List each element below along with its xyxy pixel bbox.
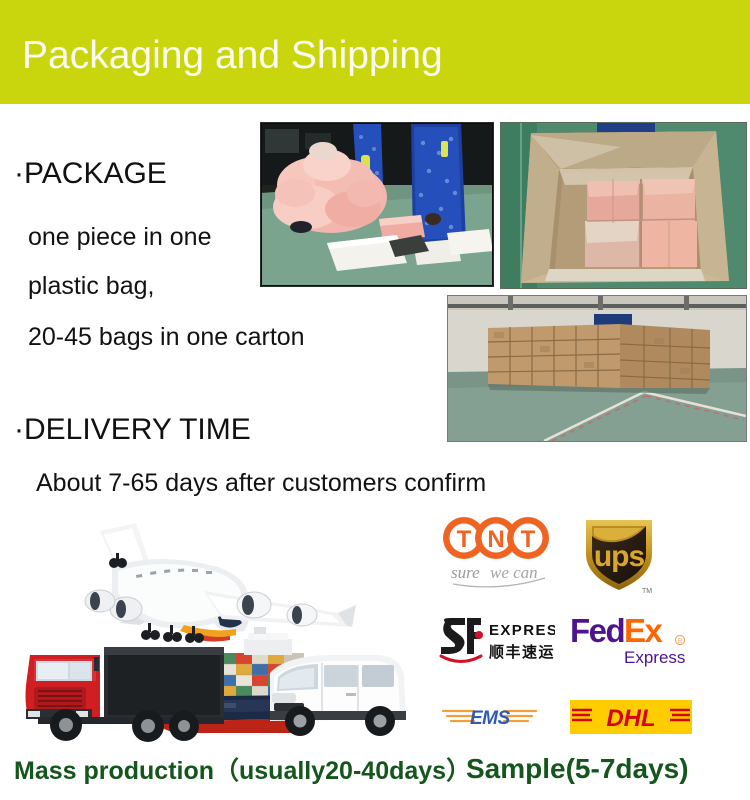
svg-text:顺丰速运: 顺丰速运	[489, 643, 555, 661]
svg-text:we can: we can	[490, 563, 538, 582]
svg-text:EMS: EMS	[470, 708, 511, 729]
package-heading: ·PACKAGE	[14, 156, 167, 192]
svg-text:TM: TM	[642, 588, 652, 595]
svg-text:T: T	[457, 526, 472, 553]
svg-text:sure: sure	[451, 563, 480, 582]
svg-text:Ex: Ex	[624, 612, 664, 649]
package-line-1: one piece in one	[28, 222, 211, 252]
svg-text:N: N	[487, 526, 504, 553]
svg-text:R: R	[678, 639, 683, 645]
svg-text:Express: Express	[624, 648, 685, 667]
warehouse-photo	[447, 295, 747, 442]
delivery-heading: ·DELIVERY TIME	[14, 412, 251, 448]
logistics-composite	[8, 505, 428, 755]
svg-text:T: T	[521, 526, 536, 553]
sample-label: Sample(5-7days)	[466, 752, 689, 786]
ems-logo: EMS	[440, 703, 538, 731]
tnt-logo: T N T sure we can	[437, 512, 557, 590]
package-line-2: plastic bag,	[28, 271, 154, 301]
svg-text:Fed: Fed	[570, 612, 624, 649]
delivery-line: About 7-65 days after customers confirm	[36, 468, 486, 498]
production-line-photo	[260, 122, 494, 287]
packaging-shipping-page: Packaging and Shipping ·PACKAGE one piec…	[0, 0, 750, 800]
svg-text:ups: ups	[594, 540, 645, 573]
dhl-logo: DHL	[570, 700, 692, 734]
mass-production-label: Mass production（usually20-40days）	[14, 755, 471, 787]
sf-express-logo: EXPRESS 顺丰速运	[437, 612, 555, 668]
svg-text:DHL: DHL	[606, 705, 655, 732]
carton-inner-photo	[500, 122, 747, 289]
ups-logo: ups TM	[576, 510, 662, 596]
page-title: Packaging and Shipping	[22, 31, 443, 81]
svg-text:EXPRESS: EXPRESS	[489, 622, 555, 639]
fedex-logo: Fed Ex R Express	[568, 610, 694, 670]
package-line-3: 20-45 bags in one carton	[28, 322, 305, 352]
